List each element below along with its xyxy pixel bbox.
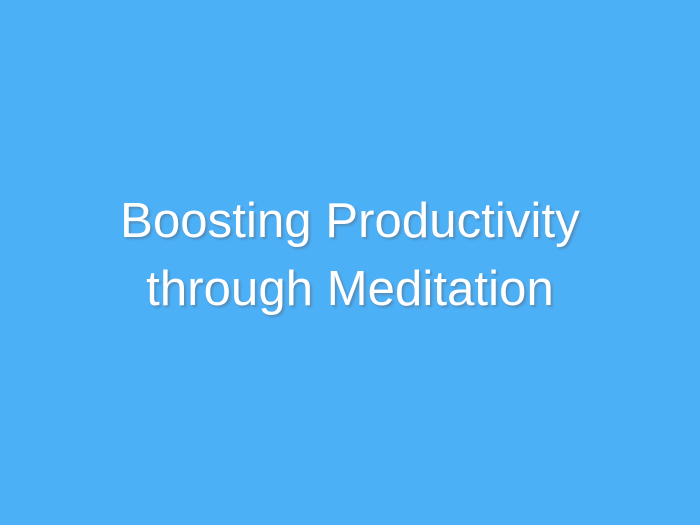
page-title: Boosting Productivity through Meditation xyxy=(70,188,630,322)
hero-banner: Boosting Productivity through Meditation xyxy=(0,0,700,525)
headline-block: Boosting Productivity through Meditation xyxy=(70,188,630,336)
